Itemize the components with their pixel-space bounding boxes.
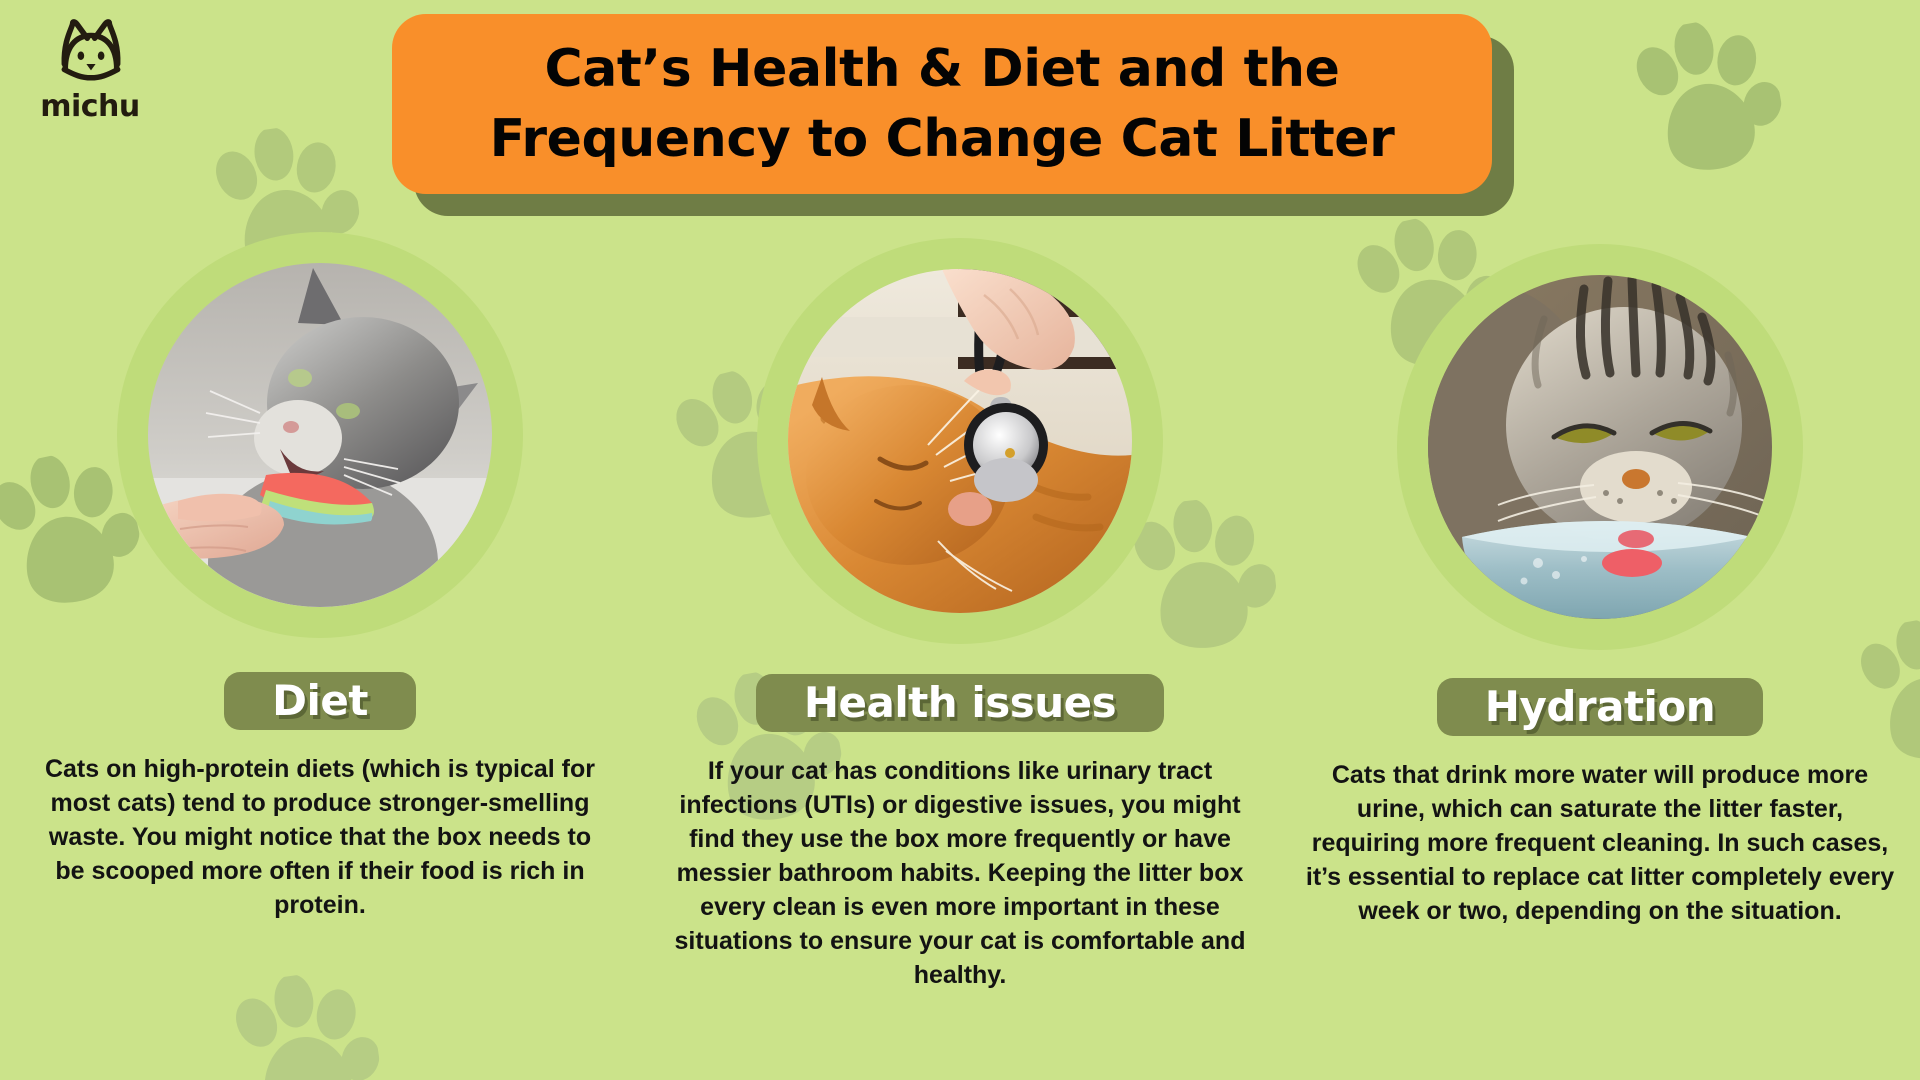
section-body-health: If your cat has conditions like urinary … xyxy=(660,754,1260,992)
cat-head-icon xyxy=(45,18,137,90)
section-badge-diet: Diet xyxy=(224,672,416,730)
column-hydration: Hydration Cats that drink more water wil… xyxy=(1280,232,1920,992)
column-diet: Diet Cats on high-protein diets (which i… xyxy=(0,232,640,992)
vet-examining-ginger-cat-photo xyxy=(788,269,1132,613)
column-health: Health issues If your cat has conditions… xyxy=(640,232,1280,992)
photo-ring xyxy=(117,232,523,638)
section-body-hydration: Cats that drink more water will produce … xyxy=(1300,758,1900,928)
section-badge-health: Health issues xyxy=(756,674,1164,732)
paw-print-icon xyxy=(1617,10,1793,194)
section-body-diet: Cats on high-protein diets (which is typ… xyxy=(40,752,600,922)
title-banner-wrap: Cat’s Health & Diet and the Frequency to… xyxy=(392,14,1492,204)
section-badge-hydration: Hydration xyxy=(1437,678,1763,736)
brand-name: michu xyxy=(38,92,142,122)
section-badge-label: Hydration xyxy=(1485,686,1715,728)
section-badge-label: Health issues xyxy=(804,682,1116,724)
section-badge-label: Diet xyxy=(272,680,368,722)
page-title-line-2: Frequency to Change Cat Litter xyxy=(490,104,1395,174)
title-banner: Cat’s Health & Diet and the Frequency to… xyxy=(392,14,1492,194)
page-title-line-1: Cat’s Health & Diet and the xyxy=(544,34,1339,104)
photo-ring xyxy=(757,238,1163,644)
photo-ring xyxy=(1397,244,1803,650)
brand-logo[interactable]: michu xyxy=(38,18,148,128)
content-columns: Diet Cats on high-protein diets (which i… xyxy=(0,232,1920,992)
cat-eating-watermelon-photo xyxy=(148,263,492,607)
cat-drinking-water-photo xyxy=(1428,275,1772,619)
